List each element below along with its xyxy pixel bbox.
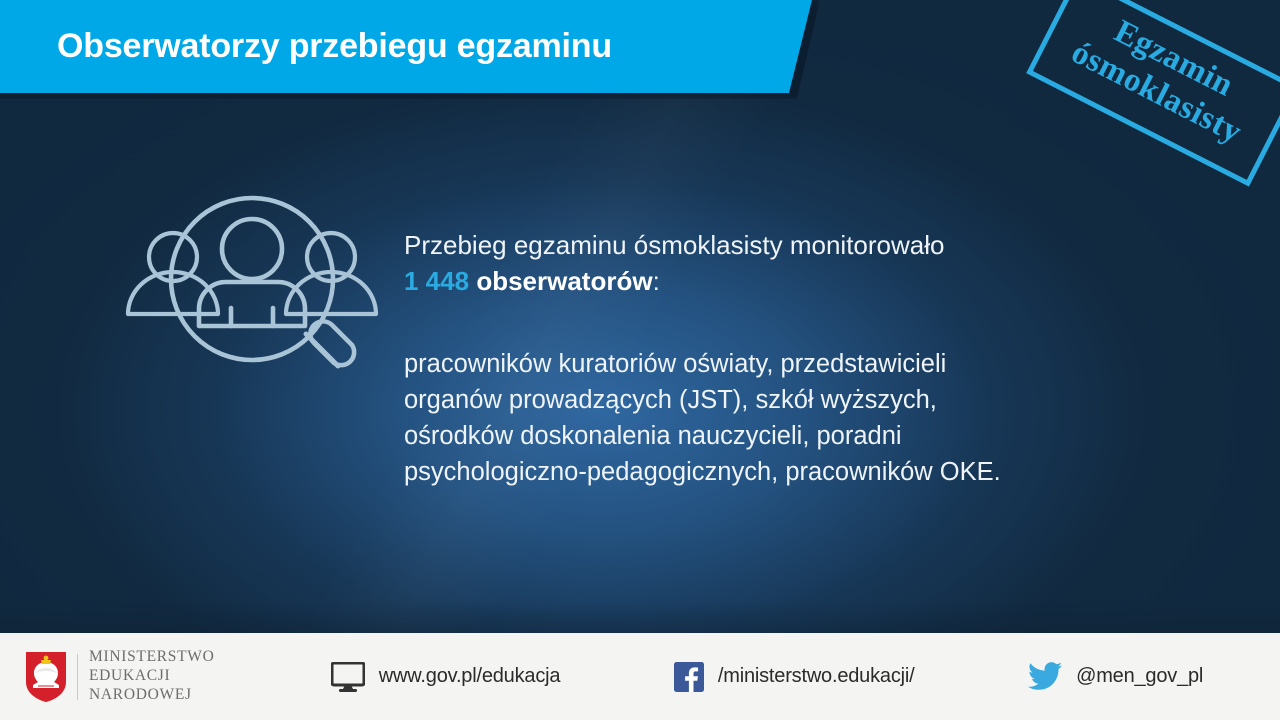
- footer-link-twitter[interactable]: @men_gov_pl: [1028, 662, 1203, 691]
- paragraph-line: ośrodków doskonalenia nauczycieli, porad…: [404, 418, 1194, 454]
- slide-root: Obserwatorzy przebiegu egzaminu Egzamin …: [0, 0, 1280, 720]
- content-block: Przebieg egzaminu ósmoklasisty monitorow…: [404, 228, 1194, 491]
- twitter-icon: [1028, 662, 1062, 691]
- observers-magnifier-icon: [118, 192, 386, 377]
- footer-link-website[interactable]: www.gov.pl/edukacja: [331, 662, 560, 692]
- observer-categories-paragraph: pracowników kuratoriów oświaty, przedsta…: [404, 346, 1194, 491]
- footer-link-website-label: www.gov.pl/edukacja: [379, 665, 560, 688]
- lead-colon: :: [653, 266, 660, 296]
- logo-divider: [77, 654, 78, 700]
- footer-links: www.gov.pl/edukacja /ministerstwo.edukac…: [274, 662, 1280, 692]
- paragraph-line: psychologiczno-pedagogicznych, pracownik…: [404, 454, 1194, 490]
- observer-count-label: obserwatorów: [476, 266, 652, 296]
- lead-text: Przebieg egzaminu ósmoklasisty monitorow…: [404, 228, 1194, 300]
- ministry-name-line-3: NARODOWEJ: [89, 686, 215, 705]
- ministry-logo: MINISTERSTWO EDUKACJI NARODOWEJ: [24, 648, 274, 705]
- lead-prefix: Przebieg egzaminu ósmoklasisty monitorow…: [404, 230, 944, 260]
- monitor-icon: [331, 662, 365, 692]
- ministry-name-line-1: MINISTERSTWO: [89, 648, 215, 667]
- paragraph-line: pracowników kuratoriów oświaty, przedsta…: [404, 346, 1194, 382]
- ministry-name: MINISTERSTWO EDUKACJI NARODOWEJ: [89, 648, 215, 705]
- paragraph-line: organów prowadzących (JST), szkół wyższy…: [404, 382, 1194, 418]
- observer-count: 1 448: [404, 266, 469, 296]
- footer-link-facebook-label: /ministerstwo.edukacji/: [718, 665, 915, 688]
- footer-link-facebook[interactable]: /ministerstwo.edukacji/: [674, 662, 915, 692]
- facebook-icon: [674, 662, 704, 692]
- ministry-name-line-2: EDUKACJI: [89, 667, 215, 686]
- page-title: Obserwatorzy przebiegu egzaminu: [57, 0, 612, 93]
- polish-coat-of-arms-icon: [24, 650, 68, 704]
- footer-bar: MINISTERSTWO EDUKACJI NARODOWEJ www.gov.…: [0, 633, 1280, 720]
- footer-link-twitter-label: @men_gov_pl: [1076, 665, 1203, 688]
